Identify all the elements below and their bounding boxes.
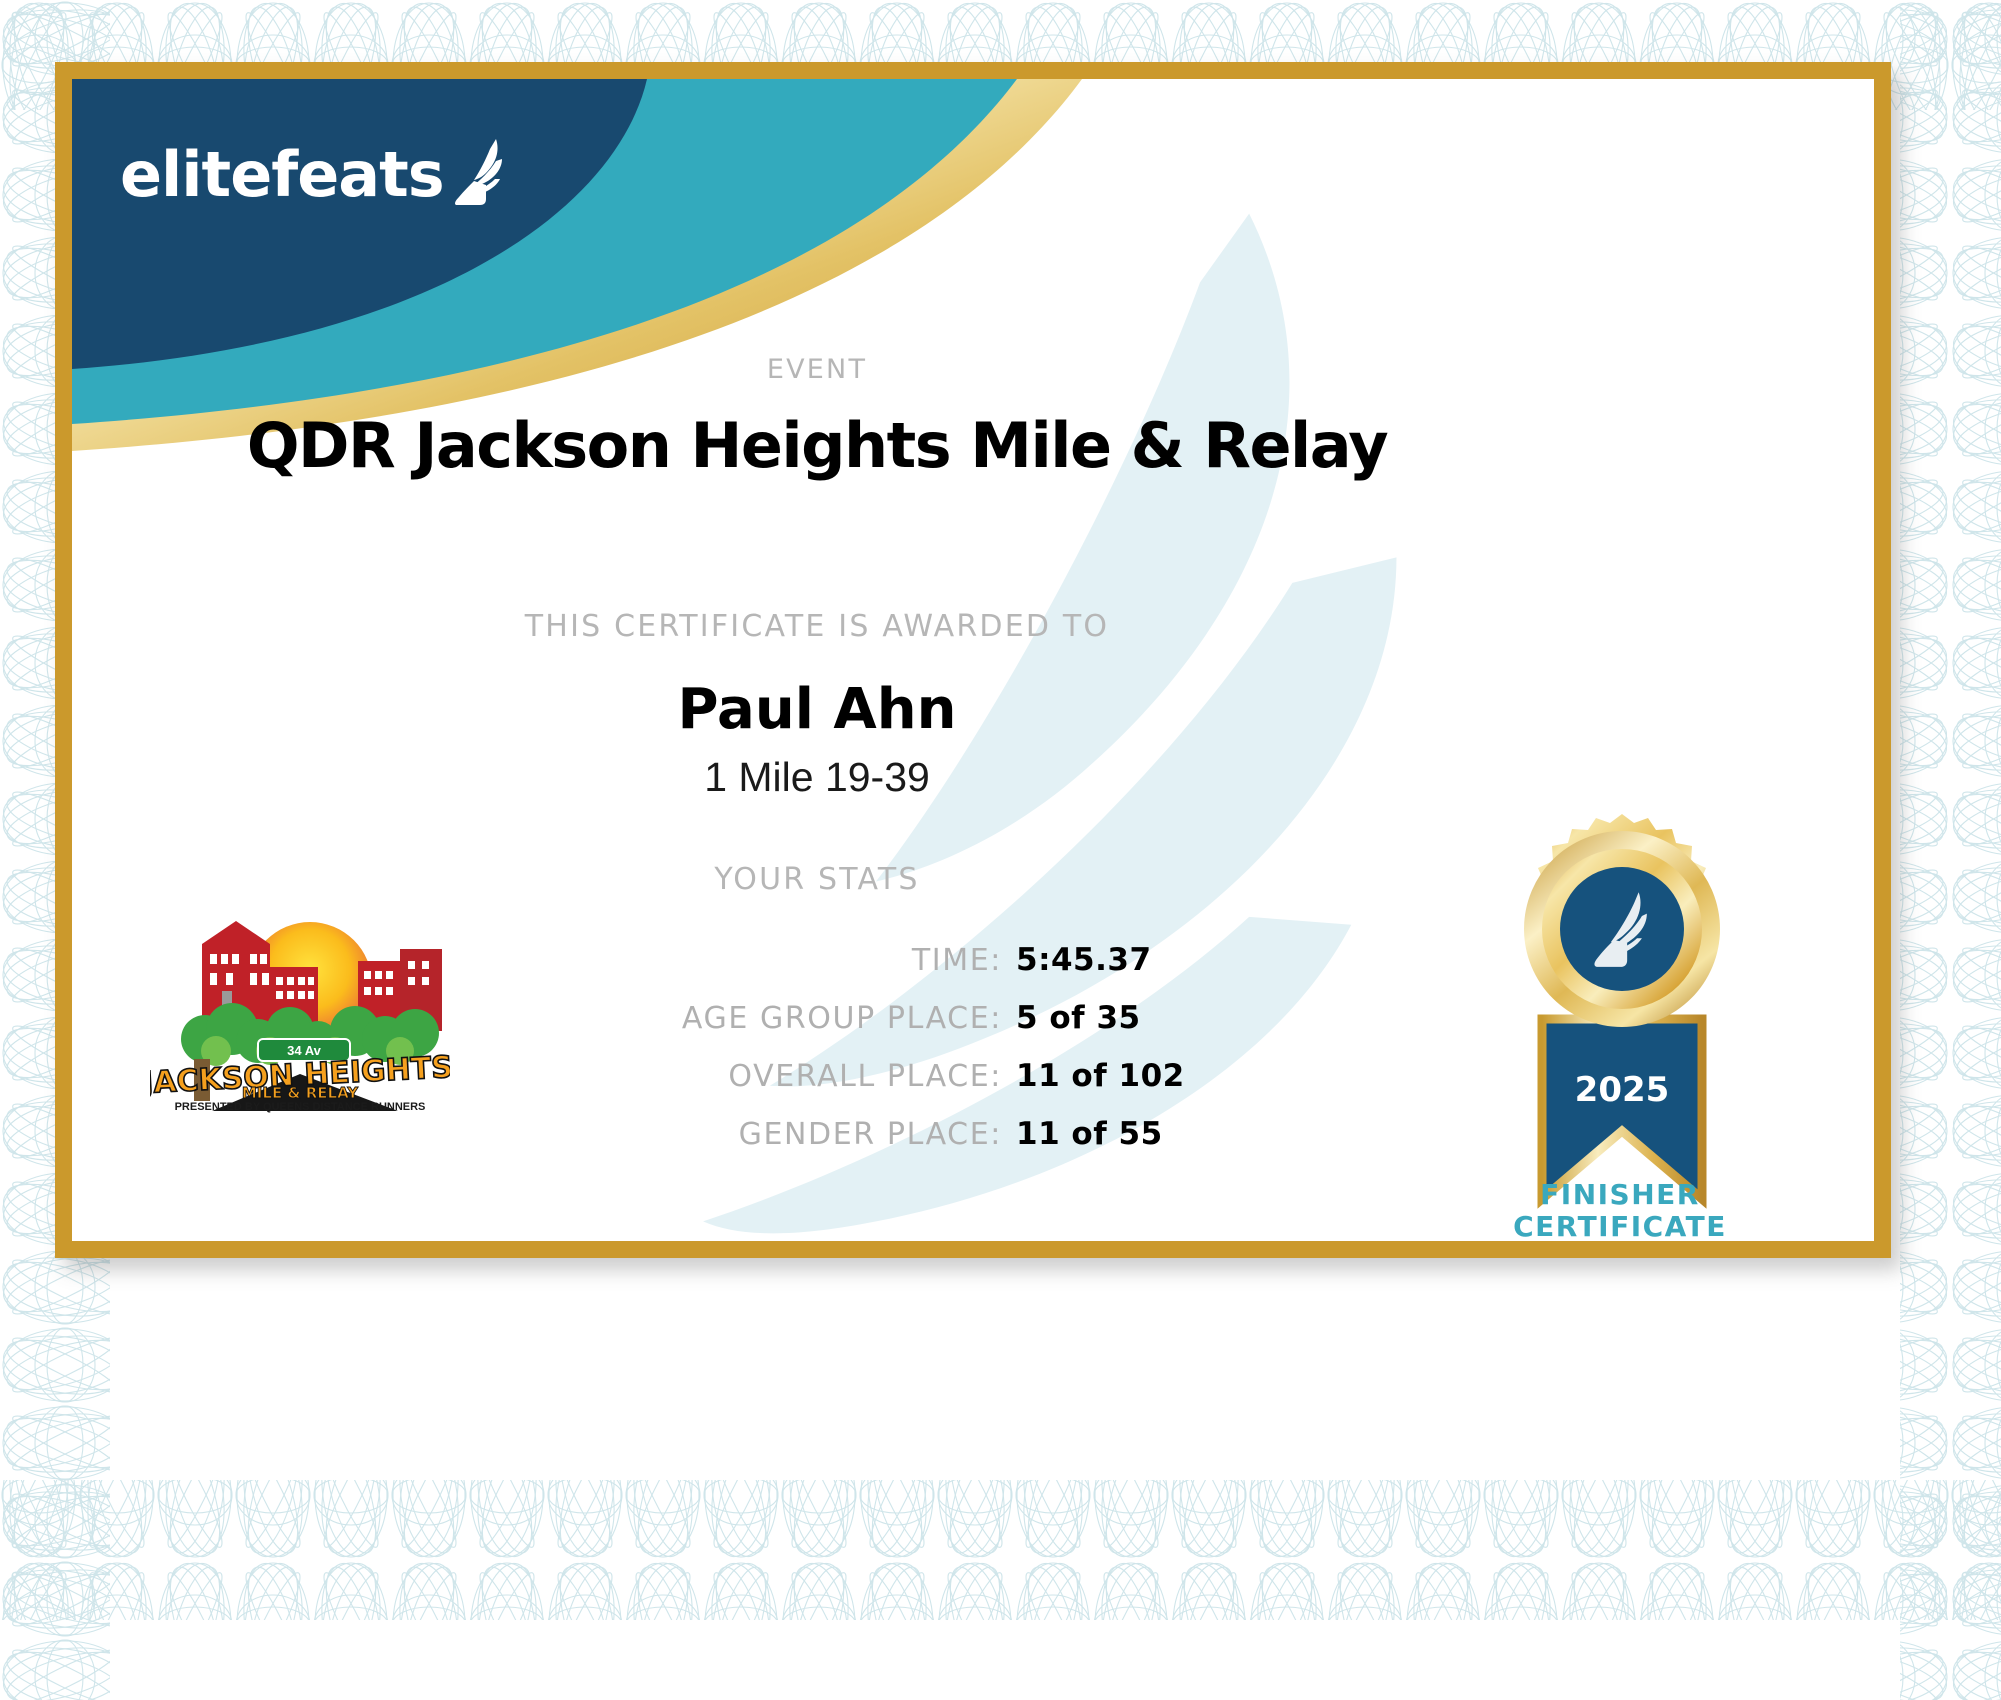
- race-logo-presenter: PRESENTED BY QUEENS DISTANCE RUNNERS: [175, 1101, 426, 1113]
- event-title: QDR Jackson Heights Mile & Relay: [72, 409, 1562, 482]
- recipient-division: 1 Mile 19-39: [72, 754, 1562, 801]
- badge-year-text: 2025: [1575, 1070, 1670, 1110]
- awarded-to-label: THIS CERTIFICATE IS AWARDED TO: [72, 609, 1562, 644]
- stat-value: 5:45.37: [1016, 942, 1152, 978]
- badge-caption-line1: FINISHER: [1470, 1179, 1770, 1211]
- event-label: EVENT: [72, 354, 1562, 385]
- stat-row-gender-place: GENDER PLACE: 11 of 55: [72, 1116, 1562, 1174]
- badge-caption-line2: CERTIFICATE: [1470, 1211, 1770, 1241]
- stat-label: GENDER PLACE:: [72, 1117, 1002, 1152]
- stat-value: 11 of 102: [1016, 1058, 1185, 1094]
- stat-value: 11 of 55: [1016, 1116, 1163, 1152]
- gold-medal-rosette-icon: 2025: [1472, 809, 1772, 1239]
- certificate-card: elitefeats EVE: [55, 62, 1891, 1258]
- badge-caption: FINISHER CERTIFICATE: [1470, 1179, 1770, 1241]
- race-logo-subtitle: MILE & RELAY: [242, 1084, 359, 1102]
- stat-value: 5 of 35: [1016, 1000, 1141, 1036]
- race-event-logo: 34 Av JACKSON HEIGHTS MILE & RELAY PRESE…: [150, 899, 450, 1114]
- recipient-name: Paul Ahn: [72, 677, 1562, 742]
- your-stats-label: YOUR STATS: [72, 862, 1562, 897]
- street-sign-text: 34 Av: [287, 1043, 321, 1058]
